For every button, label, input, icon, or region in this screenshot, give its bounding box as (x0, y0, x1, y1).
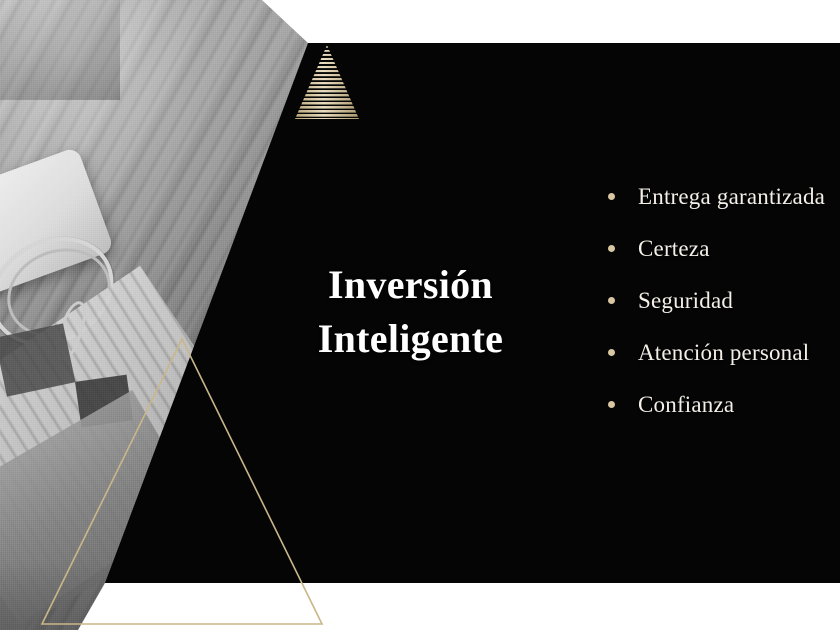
presentation-slide: Inversión Inteligente Entrega garantizad… (0, 0, 840, 630)
list-item: Entrega garantizada (608, 170, 840, 222)
striped-pyramid-logo (294, 44, 360, 120)
bullet-dot-icon (608, 349, 615, 356)
bullet-label: Confianza (638, 393, 734, 416)
bullet-label: Seguridad (638, 289, 733, 312)
bullet-dot-icon (608, 401, 615, 408)
list-item: Atención personal (608, 326, 840, 378)
title-line-1: Inversión (253, 258, 568, 312)
page-title: Inversión Inteligente (253, 258, 568, 365)
feature-bullet-list: Entrega garantizada Certeza Seguridad At… (608, 170, 840, 430)
bullet-dot-icon (608, 245, 615, 252)
bullet-dot-icon (608, 297, 615, 304)
list-item: Seguridad (608, 274, 840, 326)
bullet-label: Atención personal (638, 341, 809, 364)
bullet-label: Entrega garantizada (638, 185, 825, 208)
list-item: Confianza (608, 378, 840, 430)
bottom-white-band (0, 583, 840, 630)
bullet-label: Certeza (638, 237, 710, 260)
list-item: Certeza (608, 222, 840, 274)
bullet-dot-icon (608, 193, 615, 200)
title-line-2: Inteligente (253, 312, 568, 366)
